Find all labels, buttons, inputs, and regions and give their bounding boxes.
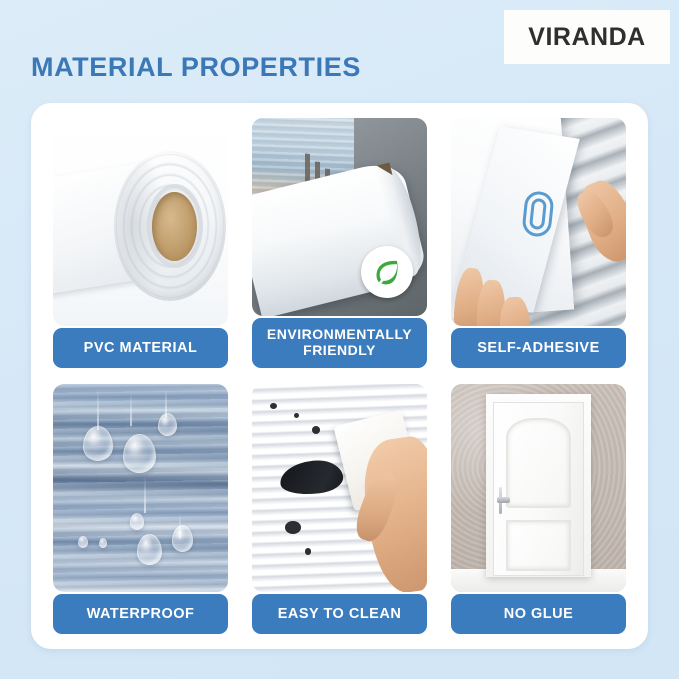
pvc-roll-photo [53, 118, 228, 326]
no-glue-photo [451, 384, 626, 592]
feature-card-waterproof[interactable]: WATERPROOF [47, 380, 234, 638]
feature-panel: PVC MATERIAL [31, 103, 648, 649]
eco-sheet-photo [252, 118, 427, 316]
feature-label-waterproof: WATERPROOF [53, 594, 228, 634]
feature-label-environmentally-friendly: ENVIRONMENTALLY FRIENDLY [252, 318, 427, 368]
leaf-icon [361, 246, 413, 298]
feature-label-self-adhesive: SELF-ADHESIVE [451, 328, 626, 368]
feature-card-environmentally-friendly[interactable]: ENVIRONMENTALLY FRIENDLY [246, 114, 433, 372]
feature-grid: PVC MATERIAL [47, 114, 632, 638]
self-adhesive-photo [451, 118, 626, 326]
feature-card-no-glue[interactable]: NO GLUE [445, 380, 632, 638]
feature-label-line-1: ENVIRONMENTALLY [267, 326, 412, 342]
feature-label-easy-to-clean: EASY TO CLEAN [252, 594, 427, 634]
page-title: MATERIAL PROPERTIES [31, 52, 361, 83]
feature-label-pvc-material: PVC MATERIAL [53, 328, 228, 368]
feature-card-easy-to-clean[interactable]: EASY TO CLEAN [246, 380, 433, 638]
feature-label-line-2: FRIENDLY [303, 342, 376, 358]
paperclip-icon [518, 187, 557, 240]
easy-to-clean-photo [252, 384, 427, 592]
waterproof-photo [53, 384, 228, 592]
feature-label-no-glue: NO GLUE [451, 594, 626, 634]
brand-name: VIRANDA [528, 23, 645, 52]
feature-card-self-adhesive[interactable]: SELF-ADHESIVE [445, 114, 632, 372]
brand-logo-box: VIRANDA [504, 10, 670, 64]
feature-card-pvc-material[interactable]: PVC MATERIAL [47, 114, 234, 372]
